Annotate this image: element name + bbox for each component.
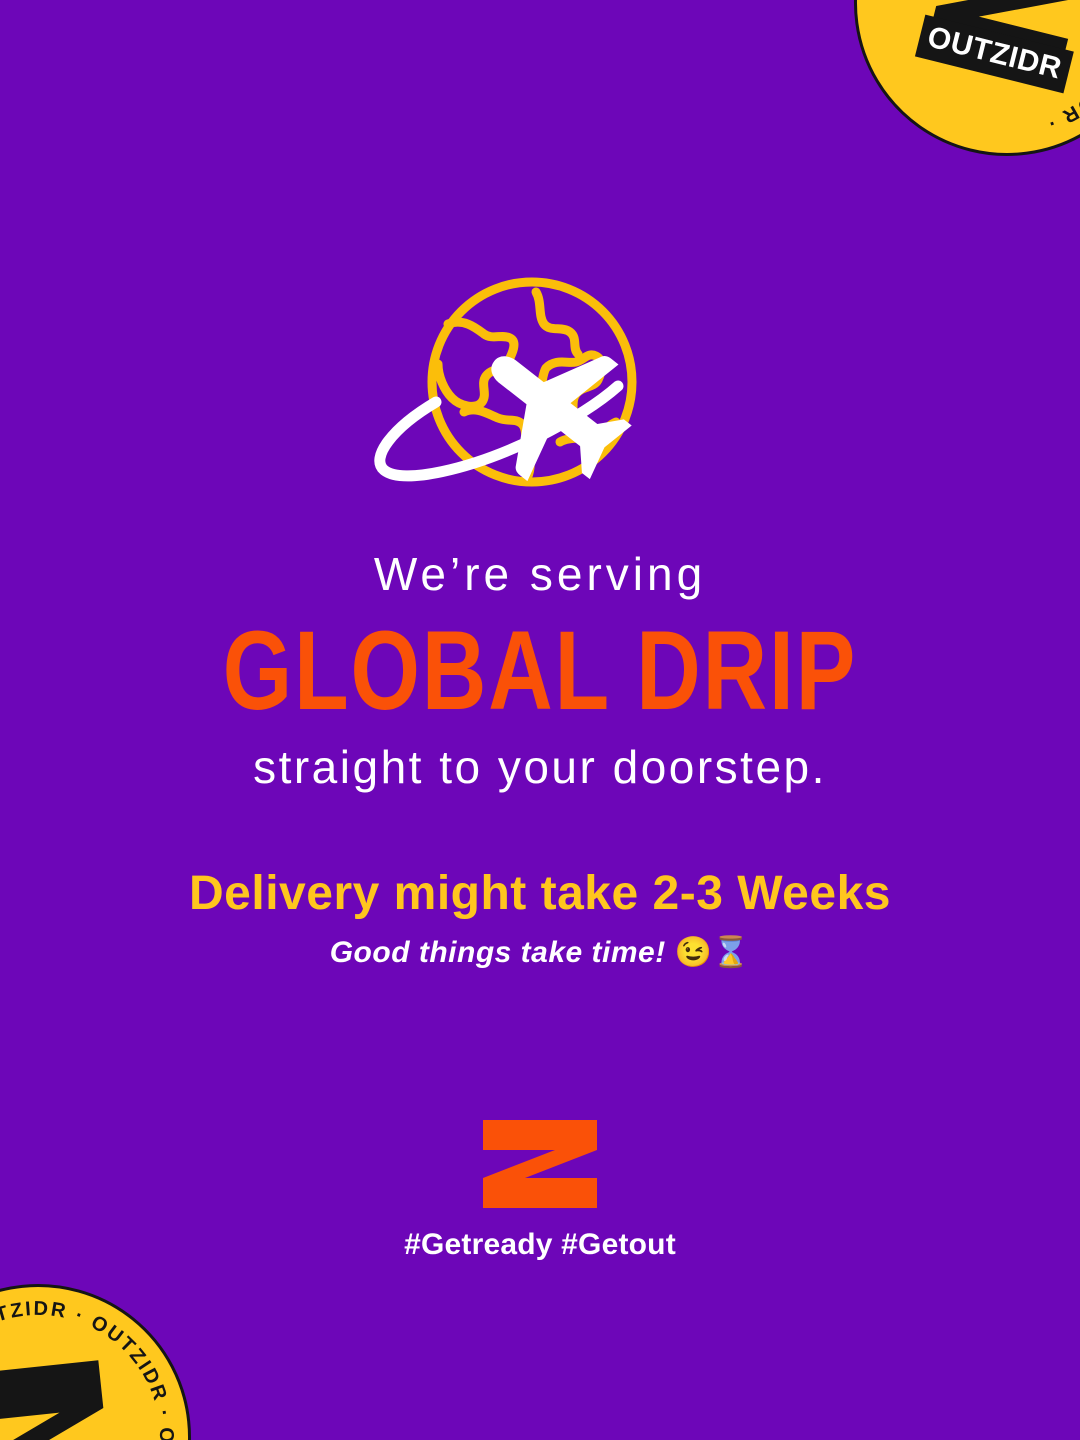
poster-canvas: OUTZIDR · OUTZIDR · OUTZIDR · OUTZIDR · …: [0, 0, 1080, 1440]
eyebrow-text: We’re serving: [0, 548, 1080, 601]
brand-z-logo-icon: [479, 1118, 601, 1210]
tagline-text: Good things take time!: [330, 936, 666, 969]
globe-airplane-svg: [360, 272, 720, 504]
page-title: GLOBAL DRIP: [16, 615, 1064, 727]
hashtags-text: #Getready #Getout: [0, 1228, 1080, 1262]
tagline: Good things take time! 😉⌛: [0, 935, 1080, 971]
subhead-text: straight to your doorstep.: [0, 741, 1080, 794]
outzidr-badge-top-right: OUTZIDR · OUTZIDR · OUTZIDR · OUTZIDR · …: [822, 0, 1080, 188]
globe-airplane-illustration: [360, 272, 720, 504]
badge-z-icon: [0, 1349, 130, 1440]
outzidr-badge-bottom-left: OUTZIDR · OUTZIDR · OUTZIDR · OUTZIDR · …: [0, 1269, 206, 1440]
badge-logo-mark: OUTZIDR: [0, 1349, 130, 1440]
headline-copy-block: We’re serving GLOBAL DRIP straight to yo…: [0, 548, 1080, 971]
footer-brand-block: #Getready #Getout: [0, 1118, 1080, 1262]
delivery-note: Delivery might take 2-3 Weeks: [0, 866, 1080, 921]
tagline-emoji: 😉⌛: [675, 936, 751, 969]
